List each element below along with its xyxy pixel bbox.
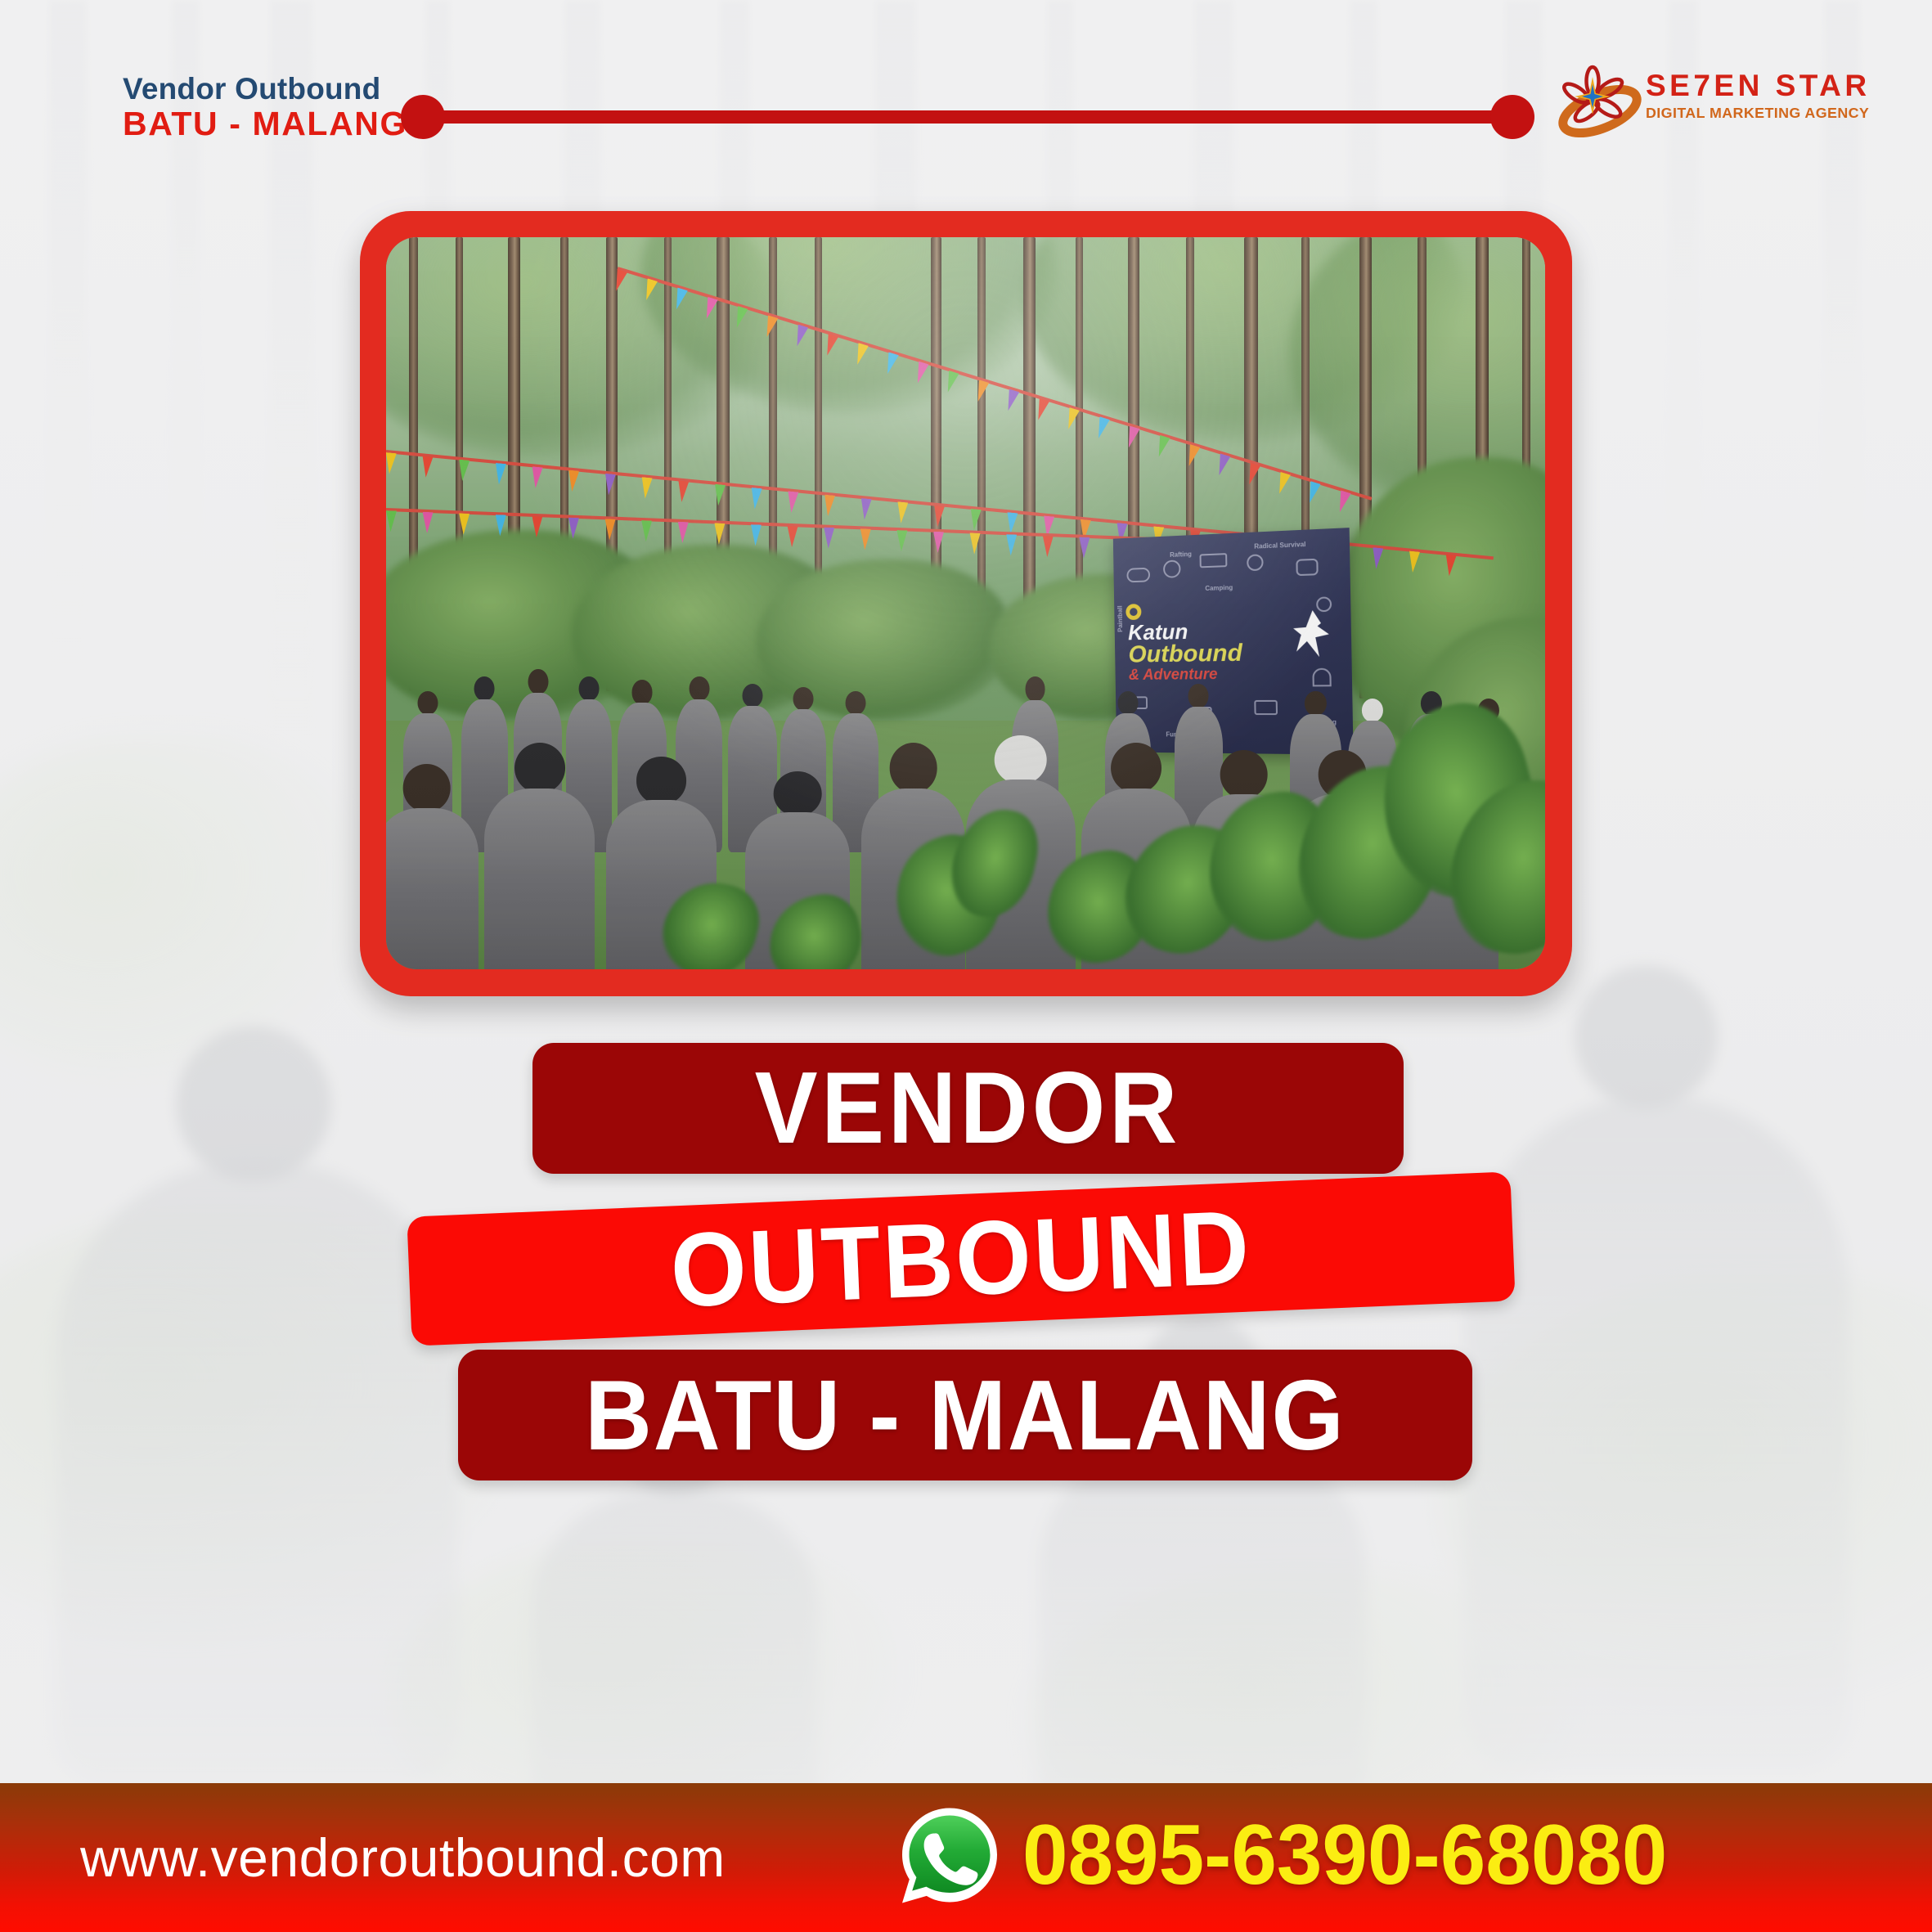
boat-doodle-icon [1126, 568, 1150, 583]
logo-text-block: SE7EN STAR DIGITAL MARKETING AGENCY [1646, 70, 1871, 121]
doodle-label: Paintball [1117, 606, 1124, 633]
doodle-label: Camping [1205, 584, 1233, 592]
footer-website[interactable]: www.vendoroutbound.com [80, 1826, 726, 1889]
whatsapp-icon[interactable] [898, 1804, 1001, 1907]
target-doodle-icon [1315, 596, 1331, 612]
katun-line2: Outbound [1128, 640, 1337, 666]
seven-star-logo[interactable]: SE7EN STAR DIGITAL MARKETING AGENCY [1554, 59, 1824, 149]
title-vendor-text: VENDOR [755, 1050, 1181, 1166]
hero-photo: Rafting Camping Radical Survival Trekkin… [386, 237, 1545, 969]
katun-line3: & Adventure [1128, 667, 1337, 683]
foreground-participant [386, 764, 479, 969]
header-divider-rule [422, 110, 1512, 124]
camera-doodle-icon [1200, 554, 1228, 568]
compass-doodle-icon [1163, 559, 1181, 577]
hero-photo-card: Rafting Camping Radical Survival Trekkin… [360, 211, 1572, 996]
footer-phone-number[interactable]: 0895-6390-68080 [1022, 1807, 1667, 1904]
doodle-label: Radical Survival [1254, 541, 1305, 551]
katun-logo-text: Katun Outbound & Adventure [1128, 619, 1337, 683]
page-header: Vendor Outbound BATU - MALANG SE7EN STAR [0, 0, 1932, 176]
title-outbound-text: OUTBOUND [668, 1187, 1253, 1331]
title-banner-location: BATU - MALANG [458, 1350, 1472, 1480]
title-location-text: BATU - MALANG [585, 1358, 1346, 1472]
sun-doodle-icon [1247, 555, 1264, 572]
logo-tagline: DIGITAL MARKETING AGENCY [1646, 106, 1875, 121]
title-banner-vendor: VENDOR [532, 1043, 1404, 1174]
brand-block: Vendor Outbound BATU - MALANG [123, 72, 407, 143]
campfire-doodle-icon [1254, 700, 1278, 715]
foreground-participant [484, 743, 595, 969]
rule-dot-right-icon [1490, 95, 1534, 139]
doodle-label: Rafting [1170, 550, 1192, 559]
logo-name: SE7EN STAR [1646, 70, 1871, 101]
star-flower-icon [1554, 61, 1642, 142]
brand-title: Vendor Outbound [123, 72, 407, 106]
footer-contact-bar: www.vendoroutbound.com 0895-6390-68080 [0, 1783, 1932, 1932]
katun-mark-icon [1125, 604, 1140, 621]
backpack-doodle-icon [1296, 559, 1318, 576]
brand-location: BATU - MALANG [123, 106, 407, 143]
